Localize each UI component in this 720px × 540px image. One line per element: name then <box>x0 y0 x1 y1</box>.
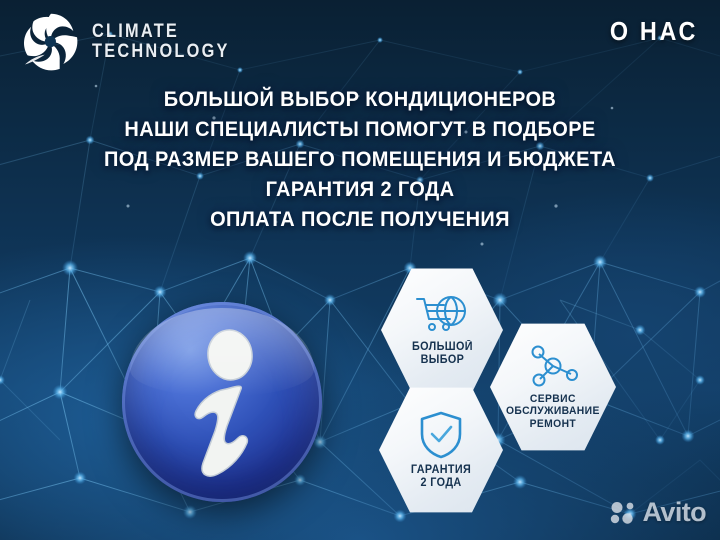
feature-label-service-line2: ОБСЛУЖИВАНИЕ <box>506 405 600 417</box>
avito-watermark: Avito <box>610 497 707 528</box>
feature-label-service-line3: РЕМОНТ <box>506 418 600 430</box>
avito-wordmark: Avito <box>643 497 707 528</box>
section-label: О НАС <box>610 16 698 47</box>
feature-label-choice-line1: БОЛЬШОЙ <box>412 341 473 354</box>
headline-line-1: БОЛЬШОЙ ВЫБОР КОНДИЦИОНЕРОВ <box>25 84 695 114</box>
feature-label-warranty: ГАРАНТИЯ 2 ГОДА <box>411 464 471 490</box>
banner-header: CLIMATE TECHNOLOGY О НАС <box>0 0 720 78</box>
headline-line-3: ПОД РАЗМЕР ВАШЕГО ПОМЕЩЕНИЯ И БЮДЖЕТА <box>25 144 695 174</box>
feature-label-service: СЕРВИС ОБСЛУЖИВАНИЕ РЕМОНТ <box>506 393 600 430</box>
network-nodes-icon <box>526 344 580 388</box>
brand-name-line2: TECHNOLOGY <box>92 42 230 62</box>
info-circle-icon <box>122 302 322 502</box>
feature-label-choice-line2: ВЫБОР <box>412 354 473 367</box>
feature-label-warranty-line2: 2 ГОДА <box>411 477 471 490</box>
information-i-glyph <box>122 302 322 502</box>
promo-banner: CLIMATE TECHNOLOGY О НАС БОЛЬШОЙ ВЫБОР К… <box>0 0 720 540</box>
brand-logo: CLIMATE TECHNOLOGY <box>20 10 252 72</box>
fan-swirl-logo-icon <box>20 10 82 72</box>
avito-dots-icon <box>610 501 636 525</box>
headline-line-4: ГАРАНТИЯ 2 ГОДА <box>25 174 695 204</box>
brand-name-line1: CLIMATE <box>92 22 230 42</box>
feature-label-choice: БОЛЬШОЙ ВЫБОР <box>412 341 473 367</box>
feature-label-service-line1: СЕРВИС <box>506 393 600 405</box>
shopping-cart-globe-icon <box>414 294 470 336</box>
network-plexus-background <box>0 0 720 540</box>
headline-block: БОЛЬШОЙ ВЫБОР КОНДИЦИОНЕРОВ НАШИ СПЕЦИАЛ… <box>0 84 720 234</box>
feature-label-warranty-line1: ГАРАНТИЯ <box>411 464 471 477</box>
headline-line-5: ОПЛАТА ПОСЛЕ ПОЛУЧЕНИЯ <box>25 204 695 234</box>
shield-check-icon <box>418 410 464 460</box>
headline-line-2: НАШИ СПЕЦИАЛИСТЫ ПОМОГУТ В ПОДБОРЕ <box>25 114 695 144</box>
